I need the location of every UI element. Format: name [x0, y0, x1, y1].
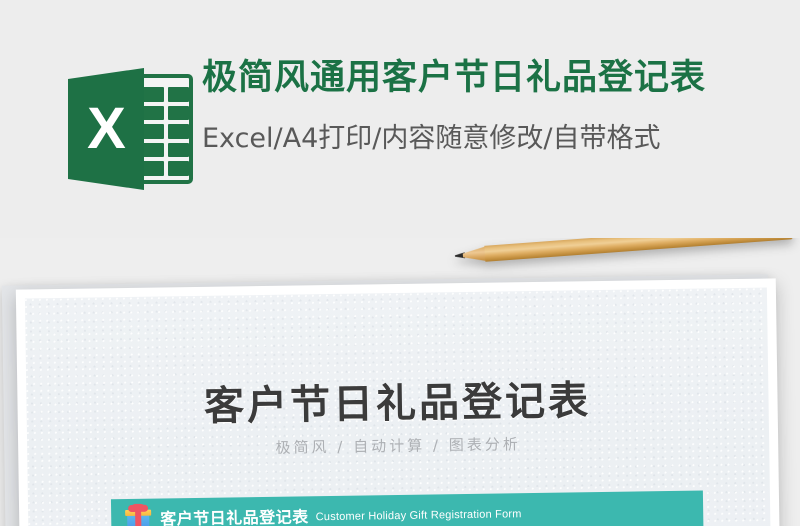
table-header-band: 客户节日礼品登记表 Customer Holiday Gift Registra…	[111, 490, 703, 526]
excel-grid-cell	[168, 124, 189, 139]
banner-title: 极简风通用客户节日礼品登记表	[202, 58, 762, 98]
gift-box-bow	[130, 504, 146, 512]
excel-logo-panel: X	[68, 68, 144, 190]
gift-box-ribbon	[135, 510, 141, 526]
excel-grid-cell	[168, 161, 189, 176]
document-subtitle: 极简风 / 自动计算 / 图表分析	[27, 429, 769, 461]
document-title: 客户节日礼品登记表	[26, 366, 769, 435]
excel-grid-cell	[143, 106, 164, 121]
table-band-title-en: Customer Holiday Gift Registration Form	[316, 505, 522, 523]
banner-text-block: 极简风通用客户节日礼品登记表 Excel/A4打印/内容随意修改/自带格式	[202, 58, 762, 155]
preview-scene: 客户节日礼品登记表 极简风 / 自动计算 / 图表分析 客户节日礼品登记表 Cu…	[0, 238, 800, 526]
excel-grid-cell	[143, 87, 164, 102]
product-banner: X 极简风通用客户节日礼品登记表 Excel/A4打印/内容随意修改/自带格式	[0, 0, 800, 238]
excel-grid-cell	[143, 161, 164, 176]
table-band-title-cn: 客户节日礼品登记表	[160, 503, 309, 526]
excel-icon: X	[68, 68, 196, 190]
excel-grid-cell	[168, 87, 189, 102]
excel-grid-cell	[143, 143, 164, 158]
banner-inner: X 极简风通用客户节日礼品登记表 Excel/A4打印/内容随意修改/自带格式	[62, 58, 762, 198]
excel-grid-cell	[168, 143, 189, 158]
gift-icon	[125, 504, 151, 526]
excel-grid	[143, 87, 189, 176]
paper-surface: 客户节日礼品登记表 极简风 / 自动计算 / 图表分析 客户节日礼品登记表 Cu…	[25, 288, 771, 526]
pencil-body	[484, 238, 792, 262]
excel-logo-letter: X	[68, 68, 144, 190]
page-root: X 极简风通用客户节日礼品登记表 Excel/A4打印/内容随意修改/自带格式 …	[0, 0, 800, 526]
excel-grid-cell	[143, 124, 164, 139]
pencil-decoration	[454, 238, 792, 266]
banner-subtitle: Excel/A4打印/内容随意修改/自带格式	[202, 116, 762, 155]
paper-sheet-front: 客户节日礼品登记表 极简风 / 自动计算 / 图表分析 客户节日礼品登记表 Cu…	[16, 278, 780, 526]
excel-grid-cell	[168, 106, 189, 121]
